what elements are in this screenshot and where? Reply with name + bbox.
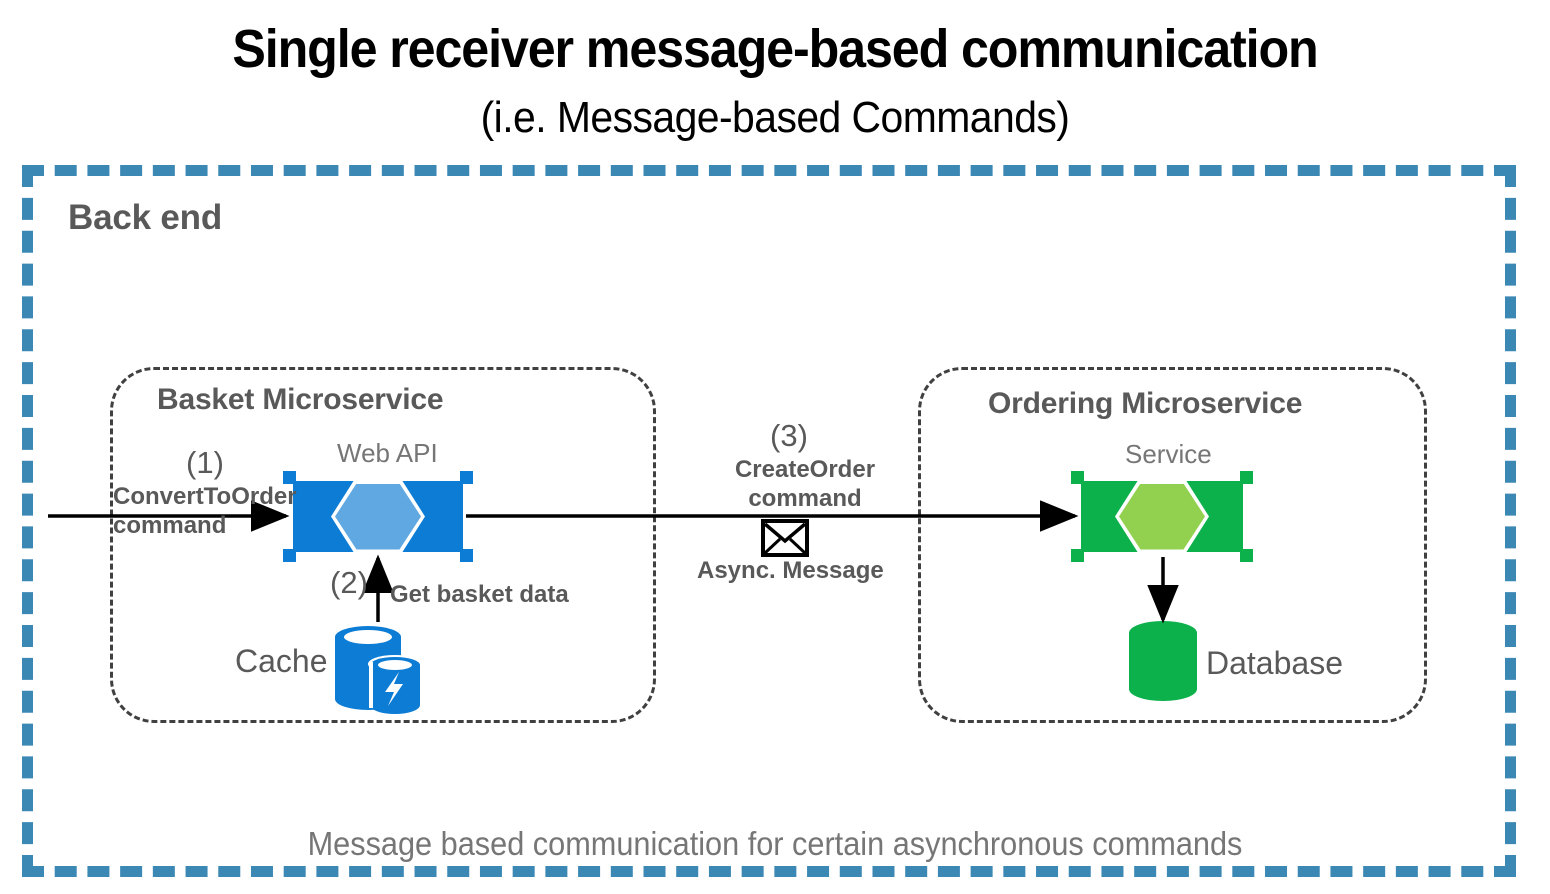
step-2-number: (2) <box>330 565 368 601</box>
step-2-label: Get basket data <box>390 580 569 609</box>
step-2-line1: Get basket data <box>390 580 569 609</box>
async-message-label: Async. Message <box>697 557 883 585</box>
step-3-label: CreateOrder command <box>722 455 888 513</box>
step-1-line2: command <box>113 511 297 540</box>
step-3-line2: command <box>722 484 888 513</box>
step-3-line1: CreateOrder <box>722 455 888 484</box>
envelope-icon <box>761 519 809 557</box>
step-1-label: ConvertToOrder command <box>113 482 297 540</box>
step-1-line1: ConvertToOrder <box>113 482 297 511</box>
step-3-number: (3) <box>770 418 808 454</box>
step-1-number: (1) <box>186 445 224 481</box>
